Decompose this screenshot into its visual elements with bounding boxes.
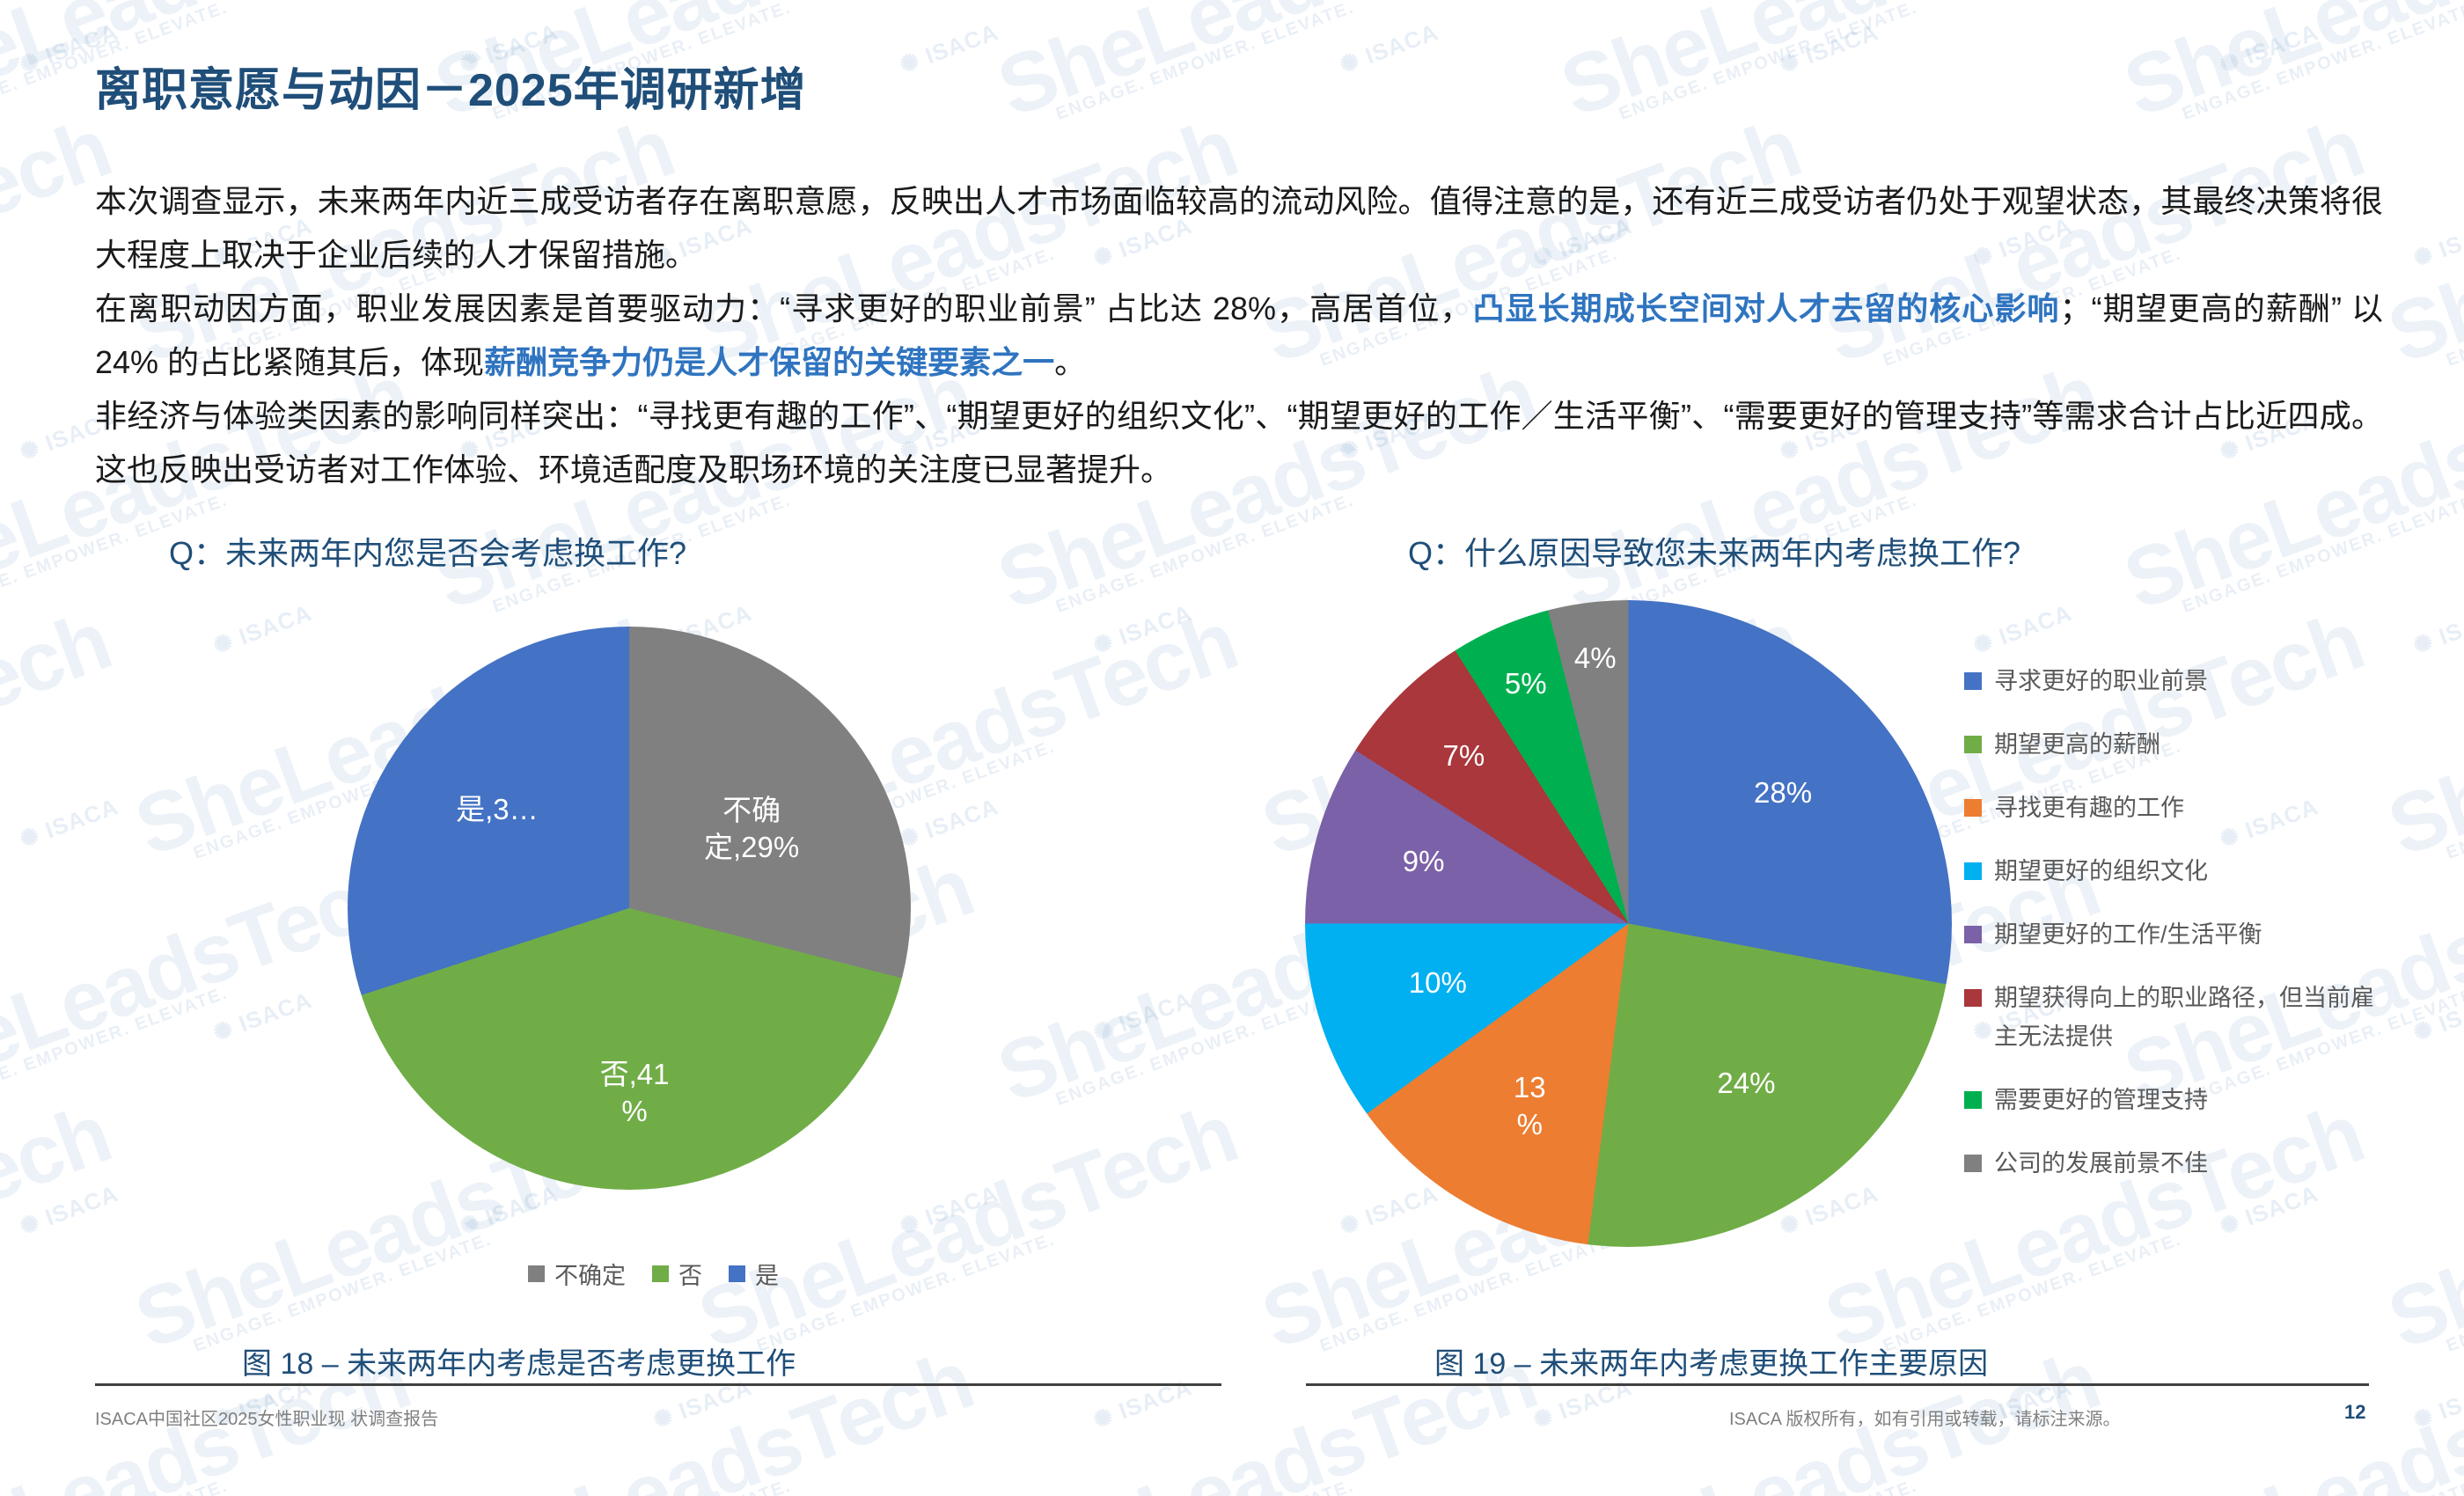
- page-title: 离职意愿与动因－2025年调研新增: [95, 53, 807, 119]
- left-pie-chart: [348, 627, 911, 1190]
- legend-item-2[interactable]: 是: [729, 1257, 779, 1291]
- legend-swatch-icon: [1964, 926, 1982, 943]
- watermark-isaca: ✺ ISACA: [2409, 1374, 2464, 1434]
- watermark-isaca: ✺ ISACA: [1969, 599, 2075, 660]
- legend-swatch-icon: [528, 1265, 545, 1282]
- legend-label: 期望更好的工作/生活平衡: [1994, 915, 2262, 954]
- watermark-tagline: ENGAGE. EMPOWER. ELEVATE.: [1881, 1229, 2184, 1356]
- paragraph-2-highlight-2: 薪酬竞争力仍是人才保留的关键要素之一: [484, 344, 1054, 380]
- watermark-isaca: ✺ ISACA: [1336, 1180, 1441, 1241]
- watermark-tagline: ENGAGE. EMPOWER. ELEVATE.: [191, 1229, 495, 1356]
- right-pie-chart: [1305, 600, 1952, 1247]
- legend-item-0[interactable]: 寻求更好的职业前景: [1964, 662, 2378, 700]
- footer-copyright: ISACA 版权所有，如有引用或转载，请标注来源。: [1729, 1404, 2120, 1430]
- legend-item-3[interactable]: 期望更好的组织文化: [1964, 852, 2378, 891]
- legend-label: 期望更好的组织文化: [1994, 852, 2208, 891]
- watermark-isaca: ✺ ISACA: [1336, 18, 1441, 79]
- legend-swatch-icon: [652, 1265, 669, 1282]
- watermark-isaca: ✺ ISACA: [456, 1180, 561, 1241]
- left-chart-question: Q：未来两年内您是否会考虑换工作?: [169, 528, 686, 574]
- legend-item-1[interactable]: 否: [652, 1257, 702, 1291]
- legend-label: 公司的发展前景不佳: [1994, 1144, 2208, 1183]
- watermark-brand: SheLeadsTech: [2113, 0, 2464, 136]
- left-caption-rule: [95, 1383, 1221, 1386]
- watermark-tagline: ENGAGE. EMPOWER. ELEVATE.: [0, 983, 231, 1110]
- legend-item-0[interactable]: 不确定: [528, 1257, 626, 1291]
- watermark-isaca: ✺ ISACA: [2409, 986, 2464, 1047]
- legend-swatch-icon: [1964, 862, 1982, 880]
- watermark-tagline: ENGAGE. EMPOWER. ELEVATE.: [2444, 244, 2464, 370]
- watermark-tagline: ENGAGE. EMPOWER. ELEVATE.: [2180, 1476, 2464, 1496]
- watermark-isaca: ✺ ISACA: [2409, 599, 2464, 660]
- watermark-tagline: ENGAGE. EMPOWER. ELEVATE.: [1053, 0, 1357, 125]
- slide-page: SheLeadsTechENGAGE. EMPOWER. ELEVATE.She…: [0, 0, 2464, 1496]
- watermark-tagline: ENGAGE. EMPOWER. ELEVATE.: [1617, 1476, 1920, 1496]
- paragraph-2-part-1: 在离职动因方面，职业发展因素是首要驱动力：“寻求更好的职业前景” 占比达 28%…: [95, 290, 1472, 326]
- watermark-tagline: ENGAGE. EMPOWER. ELEVATE.: [1053, 1476, 1357, 1496]
- legend-swatch-icon: [1964, 799, 1982, 817]
- watermark-brand: SheLeadsTech: [2377, 100, 2464, 383]
- watermark-brand: SheLeadsTech: [0, 1086, 122, 1368]
- paragraph-2-part-3: 。: [1054, 344, 1086, 380]
- watermark-tagline: ENGAGE. EMPOWER. ELEVATE.: [754, 1229, 1058, 1356]
- legend-label: 期望更高的薪酬: [1994, 725, 2160, 764]
- watermark-tagline: ENGAGE. EMPOWER. ELEVATE.: [1617, 0, 1920, 125]
- paragraph-3: 非经济与体验类因素的影响同样突出：“寻找更有趣的工作”、“期望更好的组织文化”、…: [95, 389, 2383, 496]
- watermark-isaca: ✺ ISACA: [896, 793, 1001, 854]
- watermark-isaca: ✺ ISACA: [16, 1180, 121, 1241]
- footer-page-number: 12: [2344, 1401, 2365, 1424]
- watermark-isaca: ✺ ISACA: [1089, 986, 1195, 1047]
- legend-item-1[interactable]: 期望更高的薪酬: [1964, 725, 2378, 764]
- watermark-isaca: ✺ ISACA: [896, 1180, 1001, 1241]
- paragraph-2: 在离职动因方面，职业发展因素是首要驱动力：“寻求更好的职业前景” 占比达 28%…: [95, 282, 2383, 389]
- watermark-isaca: ✺ ISACA: [2409, 212, 2464, 273]
- legend-item-4[interactable]: 期望更好的工作/生活平衡: [1964, 915, 2378, 954]
- legend-swatch-icon: [1964, 1091, 1982, 1109]
- watermark-isaca: ✺ ISACA: [1089, 599, 1195, 660]
- left-figure-caption: 图 18 – 未来两年内考虑是否考虑更换工作: [242, 1339, 796, 1382]
- legend-swatch-icon: [1964, 989, 1982, 1007]
- footer-report-name: ISACA中国社区2025女性职业现 状调查报告: [95, 1404, 438, 1430]
- watermark-isaca: ✺ ISACA: [1776, 18, 1881, 79]
- watermark-isaca: ✺ ISACA: [896, 18, 1001, 79]
- watermark-brand: SheLeadsTech: [1550, 0, 2111, 136]
- legend-swatch-icon: [1964, 736, 1982, 753]
- legend-swatch-icon: [1964, 672, 1982, 690]
- watermark-tagline: ENGAGE. EMPOWER. ELEVATE.: [1053, 490, 1357, 617]
- right-caption-rule: [1306, 1383, 2369, 1386]
- watermark-isaca: ✺ ISACA: [16, 793, 121, 854]
- watermark-brand: SheLeadsTech: [0, 593, 122, 876]
- watermark-brand: SheLeadsTech: [986, 0, 1548, 136]
- watermark-tagline: ENGAGE. EMPOWER. ELEVATE.: [2180, 0, 2464, 125]
- legend-item-6[interactable]: 需要更好的管理支持: [1964, 1081, 2378, 1119]
- legend-label: 否: [678, 1257, 702, 1291]
- legend-label: 寻求更好的职业前景: [1994, 662, 2208, 700]
- watermark-isaca: ✺ ISACA: [2216, 18, 2321, 79]
- watermark-tagline: ENGAGE. EMPOWER. ELEVATE.: [0, 1476, 231, 1496]
- watermark-tagline: ENGAGE. EMPOWER. ELEVATE.: [1053, 983, 1357, 1110]
- legend-item-5[interactable]: 期望获得向上的职业路径，但当前雇主无法提供: [1964, 979, 2378, 1056]
- watermark-tagline: ENGAGE. EMPOWER. ELEVATE.: [490, 1476, 794, 1496]
- watermark-tagline: ENGAGE. EMPOWER. ELEVATE.: [2180, 490, 2464, 617]
- paragraph-2-highlight-1: 凸显长期成长空间对人才去留的核心影响: [1472, 290, 2059, 326]
- legend-label: 不确定: [554, 1257, 626, 1291]
- watermark-tagline: ENGAGE. EMPOWER. ELEVATE.: [2444, 1229, 2464, 1356]
- watermark-isaca: ✺ ISACA: [209, 986, 315, 1047]
- legend-label: 期望获得向上的职业路径，但当前雇主无法提供: [1994, 979, 2378, 1056]
- legend-item-2[interactable]: 寻找更有趣的工作: [1964, 788, 2378, 827]
- legend-item-7[interactable]: 公司的发展前景不佳: [1964, 1144, 2378, 1183]
- left-chart-legend: 不确定否是: [528, 1257, 779, 1291]
- watermark-isaca: ✺ ISACA: [209, 599, 315, 660]
- legend-label: 寻找更有趣的工作: [1994, 788, 2184, 827]
- legend-swatch-icon: [729, 1265, 745, 1282]
- legend-swatch-icon: [1964, 1155, 1982, 1172]
- watermark-brand: SheLeadsTech: [2113, 1332, 2464, 1496]
- body-text: 本次调查显示，未来两年内近三成受访者存在离职意愿，反映出人才市场面临较高的流动风…: [95, 174, 2383, 496]
- right-figure-caption: 图 19 – 未来两年内考虑更换工作主要原因: [1434, 1339, 1988, 1382]
- paragraph-1: 本次调查显示，未来两年内近三成受访者存在离职意愿，反映出人才市场面临较高的流动风…: [95, 174, 2383, 282]
- legend-label: 是: [755, 1257, 779, 1291]
- watermark-tagline: ENGAGE. EMPOWER. ELEVATE.: [1317, 1229, 1621, 1356]
- right-chart-question: Q：什么原因导致您未来两年内考虑换工作?: [1408, 528, 2020, 574]
- legend-label: 需要更好的管理支持: [1994, 1081, 2208, 1119]
- watermark-brand: SheLeadsTech: [2377, 593, 2464, 876]
- watermark-brand: SheLeadsTech: [2377, 1086, 2464, 1368]
- right-chart-legend: 寻求更好的职业前景期望更高的薪酬寻找更有趣的工作期望更好的组织文化期望更好的工作…: [1964, 662, 2378, 1207]
- watermark-tagline: ENGAGE. EMPOWER. ELEVATE.: [2444, 737, 2464, 863]
